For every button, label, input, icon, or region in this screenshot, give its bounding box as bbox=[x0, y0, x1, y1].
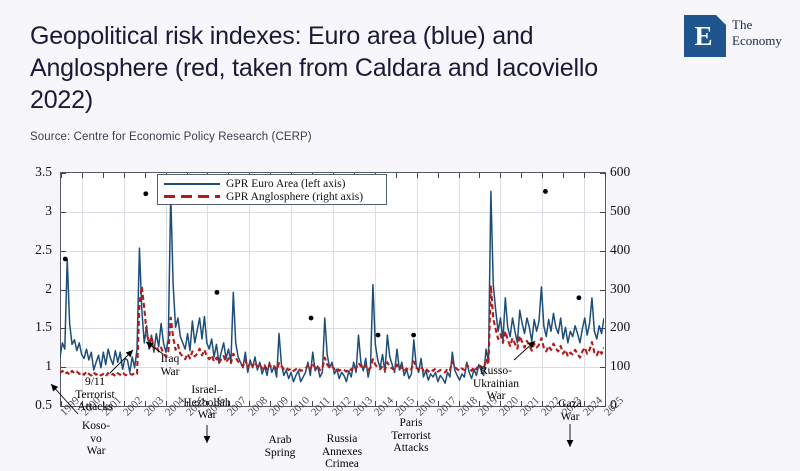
the-economy-logo: E The Economy bbox=[684, 15, 780, 57]
y-tick-label-right: 100 bbox=[610, 358, 630, 374]
annotation-gaza-war: Gaza War bbox=[524, 398, 616, 423]
logo-mark-icon: E bbox=[684, 15, 726, 57]
y-tick-label-right: 400 bbox=[610, 242, 630, 258]
legend-item-anglosphere: GPR Anglosphere (right axis) bbox=[162, 190, 382, 203]
annotation-russo-ukrainian-war: Russo- Ukrainian War bbox=[450, 365, 542, 403]
tick-top bbox=[605, 173, 606, 178]
annotation-marker-russia-annexes-crimea bbox=[376, 333, 381, 338]
y-tick-label-left: 2 bbox=[45, 281, 52, 297]
annotation-israel-hezbollah-war: Israel– Hezbollah War bbox=[161, 384, 253, 422]
annotation-kosovo-war: Koso- vo War bbox=[50, 420, 142, 458]
legend-swatch-dashed-icon bbox=[162, 191, 222, 202]
annotation-iraq-war: Iraq War bbox=[124, 353, 216, 378]
legend-item-euro-area: GPR Euro Area (left axis) bbox=[162, 177, 382, 190]
annotation-marker-russo-ukrainian-war bbox=[543, 189, 548, 194]
y-axis-left-labels: 0.511.522.533.5 bbox=[0, 172, 56, 405]
y-tick-label-left: 1 bbox=[45, 358, 52, 374]
page-title: Geopolitical risk indexes: Euro area (bl… bbox=[30, 20, 640, 116]
legend-label-anglosphere: GPR Anglosphere (right axis) bbox=[226, 191, 363, 203]
legend-swatch-solid-icon bbox=[162, 178, 222, 189]
y-tick-label-left: 1.5 bbox=[35, 319, 52, 335]
header: Geopolitical risk indexes: Euro area (bl… bbox=[0, 0, 800, 150]
logo-wordmark: The Economy bbox=[732, 17, 782, 49]
annotation-marker-paris-terrorist-attacks bbox=[411, 333, 416, 338]
y-tick-label-right: 600 bbox=[610, 164, 630, 180]
y-tick-label-right: 200 bbox=[610, 319, 630, 335]
source-caption: Source: Centre for Economic Policy Resea… bbox=[30, 131, 312, 143]
annotation-marker-arab-spring bbox=[309, 316, 314, 321]
annotation-marker-kosovo-war bbox=[63, 257, 68, 262]
annotation-sept-11-terrorist-attacks: 9/11 Terrorist Attacks bbox=[49, 376, 141, 414]
annotation-marker-gaza-war bbox=[576, 295, 581, 300]
y-tick-label-left: 3.5 bbox=[35, 164, 52, 180]
y-axis-right-labels: 0100200300400500600 bbox=[610, 172, 670, 405]
logo-word-the: The bbox=[732, 17, 752, 32]
annotation-paris-terrorist-attacks: Paris Terrorist Attacks bbox=[365, 417, 457, 455]
annotation-marker-iraq-war bbox=[143, 191, 148, 196]
gpr-chart: 0.511.522.533.5 0100200300400500600 1999… bbox=[0, 152, 800, 450]
chart-legend: GPR Euro Area (left axis) GPR Anglospher… bbox=[157, 174, 387, 205]
y-tick-label-right: 500 bbox=[610, 203, 630, 219]
annotation-marker-israel-hezbollah-war bbox=[215, 290, 220, 295]
logo-fold-corner-icon bbox=[716, 15, 726, 25]
y-tick-label-left: 3 bbox=[45, 203, 52, 219]
logo-word-economy: Economy bbox=[732, 33, 782, 49]
y-tick-label-left: 2.5 bbox=[35, 242, 52, 258]
legend-label-euro-area: GPR Euro Area (left axis) bbox=[226, 178, 345, 190]
y-tick-label-right: 300 bbox=[610, 281, 630, 297]
